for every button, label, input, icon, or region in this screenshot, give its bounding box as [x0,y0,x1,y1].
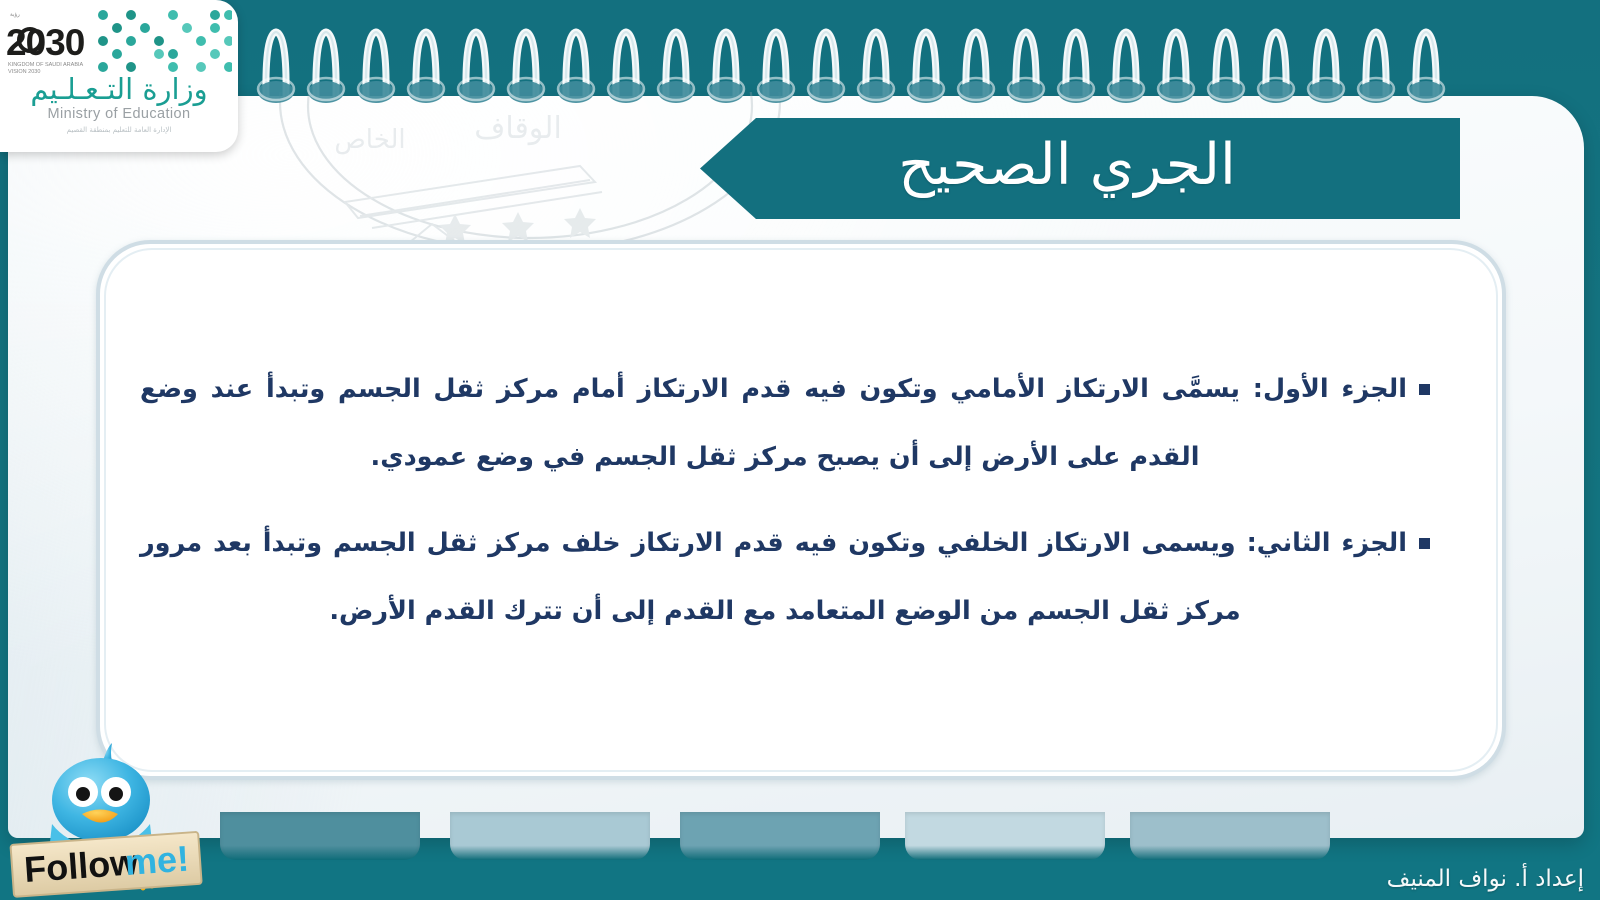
ministry-name-english: Ministry of Education [0,106,238,122]
bullet-item-2: الجزء الثاني: ويسمى الارتكاز الخلفي وتكو… [140,509,1430,645]
ministry-department-line: الإدارة العامة للتعليم بمنطقة القصيم [0,126,238,134]
bottom-tab-1[interactable] [220,812,420,860]
bullet-item-1: الجزء الأول: يسمَّى الارتكاز الأمامي وتك… [140,355,1430,491]
bullet-text-1: الجزء الأول: يسمَّى الارتكاز الأمامي وتك… [140,374,1407,472]
follow-me-badge[interactable]: Follow me! [6,720,216,900]
slide-title-banner: الجري الصحيح [700,118,1460,219]
vision-2030-gear-icon [17,27,43,53]
bottom-tab-5[interactable] [1130,812,1330,860]
ministry-logo-card: رؤية 2030 KINGDOM OF SAUDI ARABIAVISION … [0,0,238,152]
vision-2030-caption: رؤية [10,12,20,18]
content-body: الجزء الأول: يسمَّى الارتكاز الأمامي وتك… [140,355,1430,663]
bottom-tab-3[interactable] [680,812,880,860]
bullet-square-icon [1419,538,1430,549]
vision-dots-pattern [96,8,232,72]
slide-title: الجري الصحيح [898,137,1262,200]
author-signature: إعداد أ. نواف المنيف [1387,866,1584,892]
vision-2030-logo: رؤية 2030 KINGDOM OF SAUDI ARABIAVISION … [4,6,96,78]
bullet-square-icon [1419,384,1430,395]
bullet-text-2: الجزء الثاني: ويسمى الارتكاز الخلفي وتكو… [140,528,1407,626]
twitter-bird-icon [50,743,152,849]
slide-root: الوقاف الخاص رؤية 2030 [0,0,1600,900]
ministry-name-arabic: وزارة التـعـلـيم [8,72,230,106]
follow-text-light: me! [124,838,191,883]
follow-text-dark: Follow [23,841,141,890]
bottom-tab-4[interactable] [905,812,1105,860]
bottom-tab-2[interactable] [450,812,650,860]
follow-me-sign: Follow me! [10,832,201,897]
